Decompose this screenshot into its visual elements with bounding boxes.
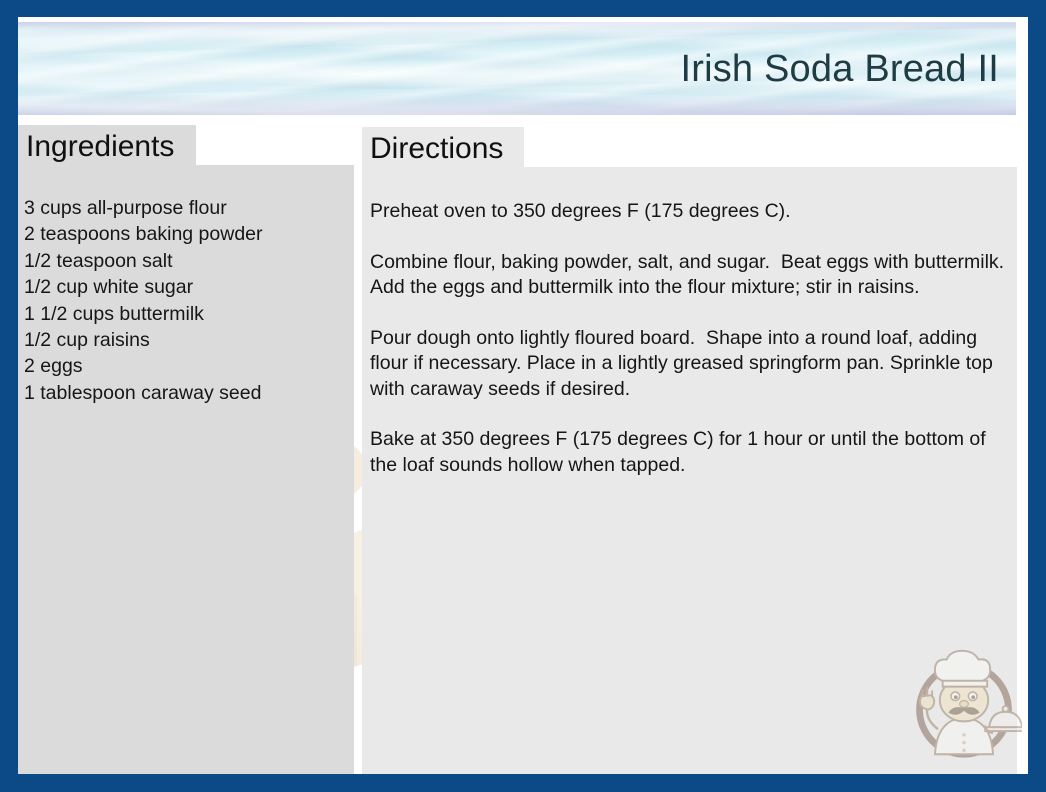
ingredients-list: 3 cups all-purpose flour 2 teaspoons bak…	[24, 195, 354, 406]
title-banner: Irish Soda Bread II	[18, 22, 1016, 115]
ingredients-heading: Ingredients	[26, 130, 174, 164]
direction-step: Pour dough onto lightly floured board. S…	[370, 326, 1016, 403]
slide-canvas: Irish Soda Bread II	[18, 17, 1028, 774]
direction-step: Bake at 350 degrees F (175 degrees C) fo…	[370, 427, 1016, 478]
direction-step: Preheat oven to 350 degrees F (175 degre…	[370, 199, 1016, 225]
page-title: Irish Soda Bread II	[680, 47, 999, 91]
list-item: 1 tablespoon caraway seed	[24, 380, 354, 406]
directions-steps: Preheat oven to 350 degrees F (175 degre…	[370, 199, 1016, 478]
list-item: 3 cups all-purpose flour	[24, 195, 354, 221]
list-item: 1/2 cup white sugar	[24, 274, 354, 300]
list-item: 1/2 teaspoon salt	[24, 248, 354, 274]
list-item: 2 eggs	[24, 353, 354, 379]
list-item: 1 1/2 cups buttermilk	[24, 301, 354, 327]
direction-step: Combine flour, baking powder, salt, and …	[370, 250, 1016, 301]
chef-mascot-logo	[906, 646, 1022, 762]
list-item: 2 teaspoons baking powder	[24, 221, 354, 247]
directions-heading: Directions	[370, 132, 503, 166]
recipe-slide: Irish Soda Bread II	[0, 0, 1046, 792]
list-item: 1/2 cup raisins	[24, 327, 354, 353]
